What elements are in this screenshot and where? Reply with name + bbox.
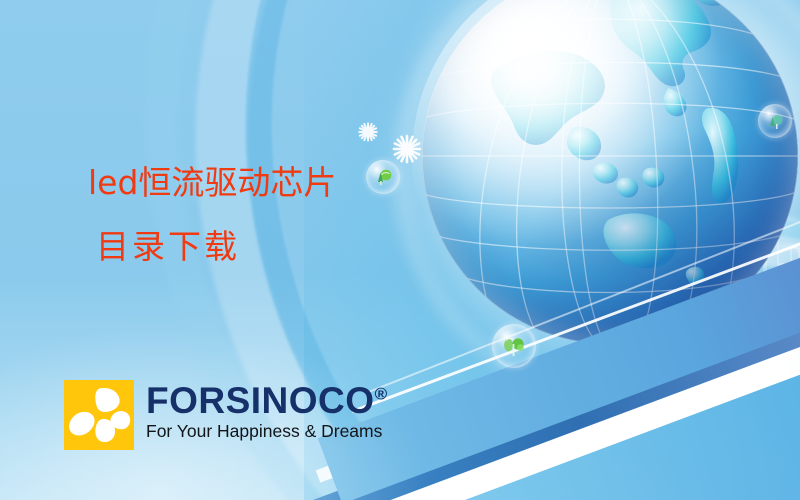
four-petal-pinwheel-icon [64, 380, 134, 450]
brand-name: FORSINOCO [146, 380, 375, 421]
poster-headline: led恒流驱动芯片 目录下载 [88, 166, 336, 263]
bubble-globe-icon [366, 160, 400, 194]
asterisk-icon [358, 122, 378, 147]
headline-line-1: led恒流驱动芯片 [88, 163, 336, 202]
brand-logo: FORSINOCO® For Your Happiness & Dreams [64, 380, 388, 450]
registered-mark: ® [375, 385, 388, 404]
poster-canvas: led恒流驱动芯片 目录下载 FORSINOCO® For Your Happi… [0, 0, 800, 500]
headline-line-2: 目录下载 [96, 230, 336, 263]
bubble-globe-right-icon [758, 104, 792, 138]
brand-tagline: For Your Happiness & Dreams [146, 423, 388, 441]
bubble-tree-icon [492, 324, 536, 368]
brand-wordmark: FORSINOCO® [146, 382, 388, 419]
